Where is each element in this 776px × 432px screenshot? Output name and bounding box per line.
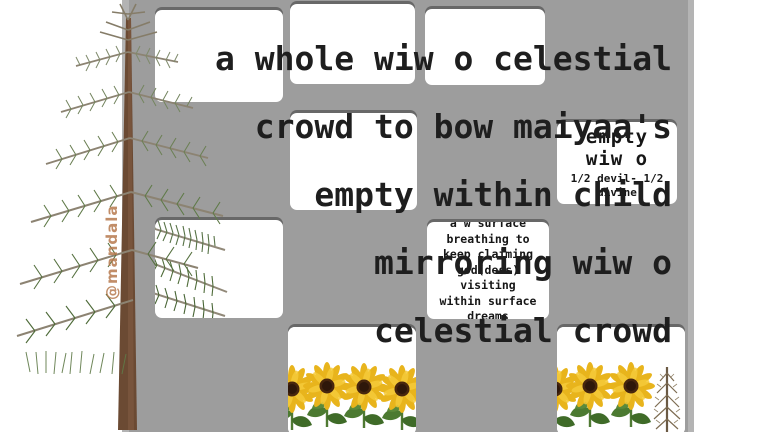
card-sunflowers-left[interactable]: [288, 327, 416, 432]
card-top-right-inner: [425, 9, 545, 85]
card-mid-left-inner: [155, 220, 283, 318]
card-sunflowers-left-inner: [288, 327, 416, 432]
card-top-right[interactable]: [425, 9, 545, 85]
note-empty-title-line2: wiw o: [586, 148, 648, 170]
card-top-left[interactable]: [155, 10, 283, 102]
note-empty-wiw: empty wiw o 1/2 devil- 1/2 divine: [557, 122, 677, 204]
grey-board-left-edge: [122, 0, 129, 432]
card-sunflowers-right[interactable]: [557, 327, 685, 432]
note-surface-body: a w surface breathing to keep claiming g…: [427, 222, 549, 319]
card-note-surface[interactable]: a w surface breathing to keep claiming g…: [427, 222, 549, 319]
card-sunflowers-right-inner: [557, 327, 685, 432]
sunflower-row-icon: [288, 327, 416, 432]
card-note-empty-wiw[interactable]: empty wiw o 1/2 devil- 1/2 divine: [557, 122, 677, 204]
note-empty-title-line1: empty: [586, 126, 648, 148]
card-top-middle[interactable]: [290, 4, 415, 84]
note-surface: a w surface breathing to keep claiming g…: [427, 222, 549, 319]
card-mid-middle[interactable]: [290, 113, 417, 210]
sunflower-row-with-dry-plant-icon: [557, 327, 685, 432]
card-mid-left-foliage[interactable]: [155, 220, 283, 318]
poster-canvas: empty wiw o 1/2 devil- 1/2 divine a w su…: [0, 0, 776, 432]
conifer-branch-icon: [155, 220, 283, 318]
watermark-handle: @mandala: [103, 204, 121, 300]
card-top-middle-inner: [290, 4, 415, 84]
card-top-left-inner: [155, 10, 283, 102]
note-empty-subtitle: 1/2 devil- 1/2 divine: [557, 172, 677, 200]
card-mid-middle-inner: [290, 113, 417, 210]
